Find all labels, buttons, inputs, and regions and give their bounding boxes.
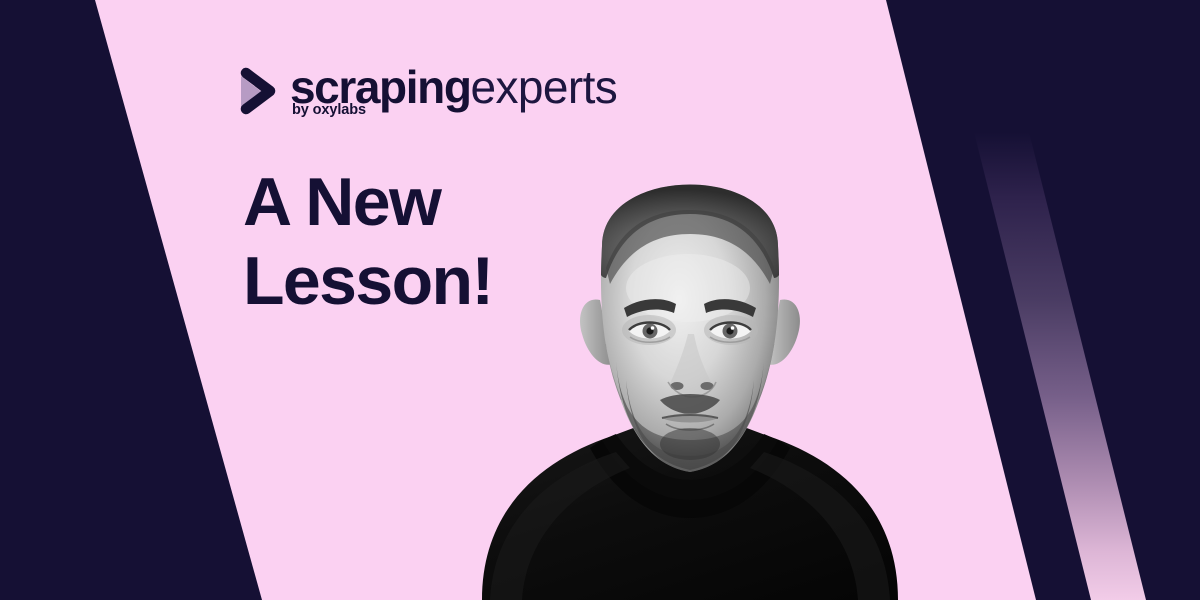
scraping-experts-logo[interactable]: scrapingexperts by oxylabs — [236, 62, 617, 120]
presenter-portrait — [430, 118, 990, 600]
headline-title: A New Lesson! — [243, 163, 493, 321]
logo-tagline: by oxylabs — [292, 102, 366, 118]
promo-banner: scrapingexperts by oxylabs A New Lesson! — [0, 0, 1200, 600]
logo-word-experts: experts — [471, 61, 618, 113]
chevron-right-logo-mark — [236, 62, 282, 120]
logo-wordmark-group: scrapingexperts by oxylabs — [290, 62, 617, 110]
